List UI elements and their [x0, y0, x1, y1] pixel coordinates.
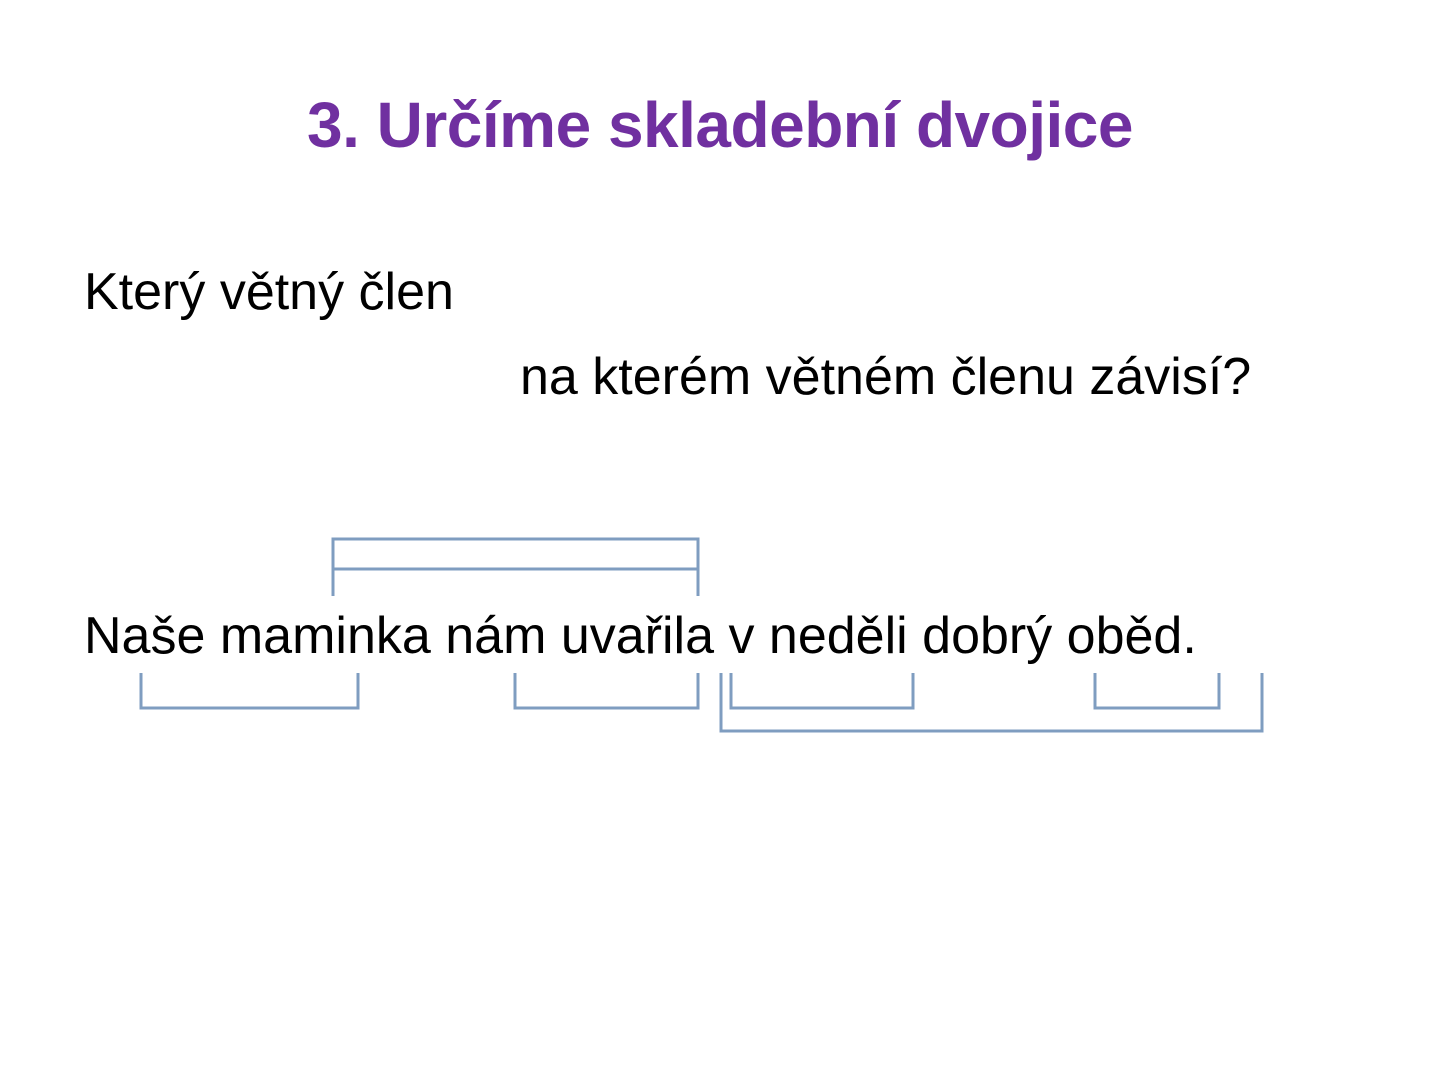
pair-bracket-nam-uvarila	[515, 673, 698, 708]
page-title: 3. Určíme skladební dvojice	[0, 92, 1440, 159]
pair-bracket-uvarila-obed	[721, 673, 1262, 731]
pair-bracket-dobry-obed	[1095, 673, 1219, 708]
pair-bracket-nase-maminka	[141, 673, 358, 708]
question-line-1: Který větný člen	[84, 263, 454, 321]
question-line-2: na kterém větném členu závisí?	[520, 348, 1251, 406]
analysed-sentence: Naše maminka nám uvařila v neděli dobrý …	[84, 606, 1197, 666]
slide-canvas: 3. Určíme skladební dvojice Který větný …	[0, 0, 1440, 1080]
syntax-connector-diagram	[0, 0, 1440, 1080]
top-pair-bracket-outer	[333, 539, 698, 596]
pair-bracket-v-nedeli	[731, 673, 913, 708]
